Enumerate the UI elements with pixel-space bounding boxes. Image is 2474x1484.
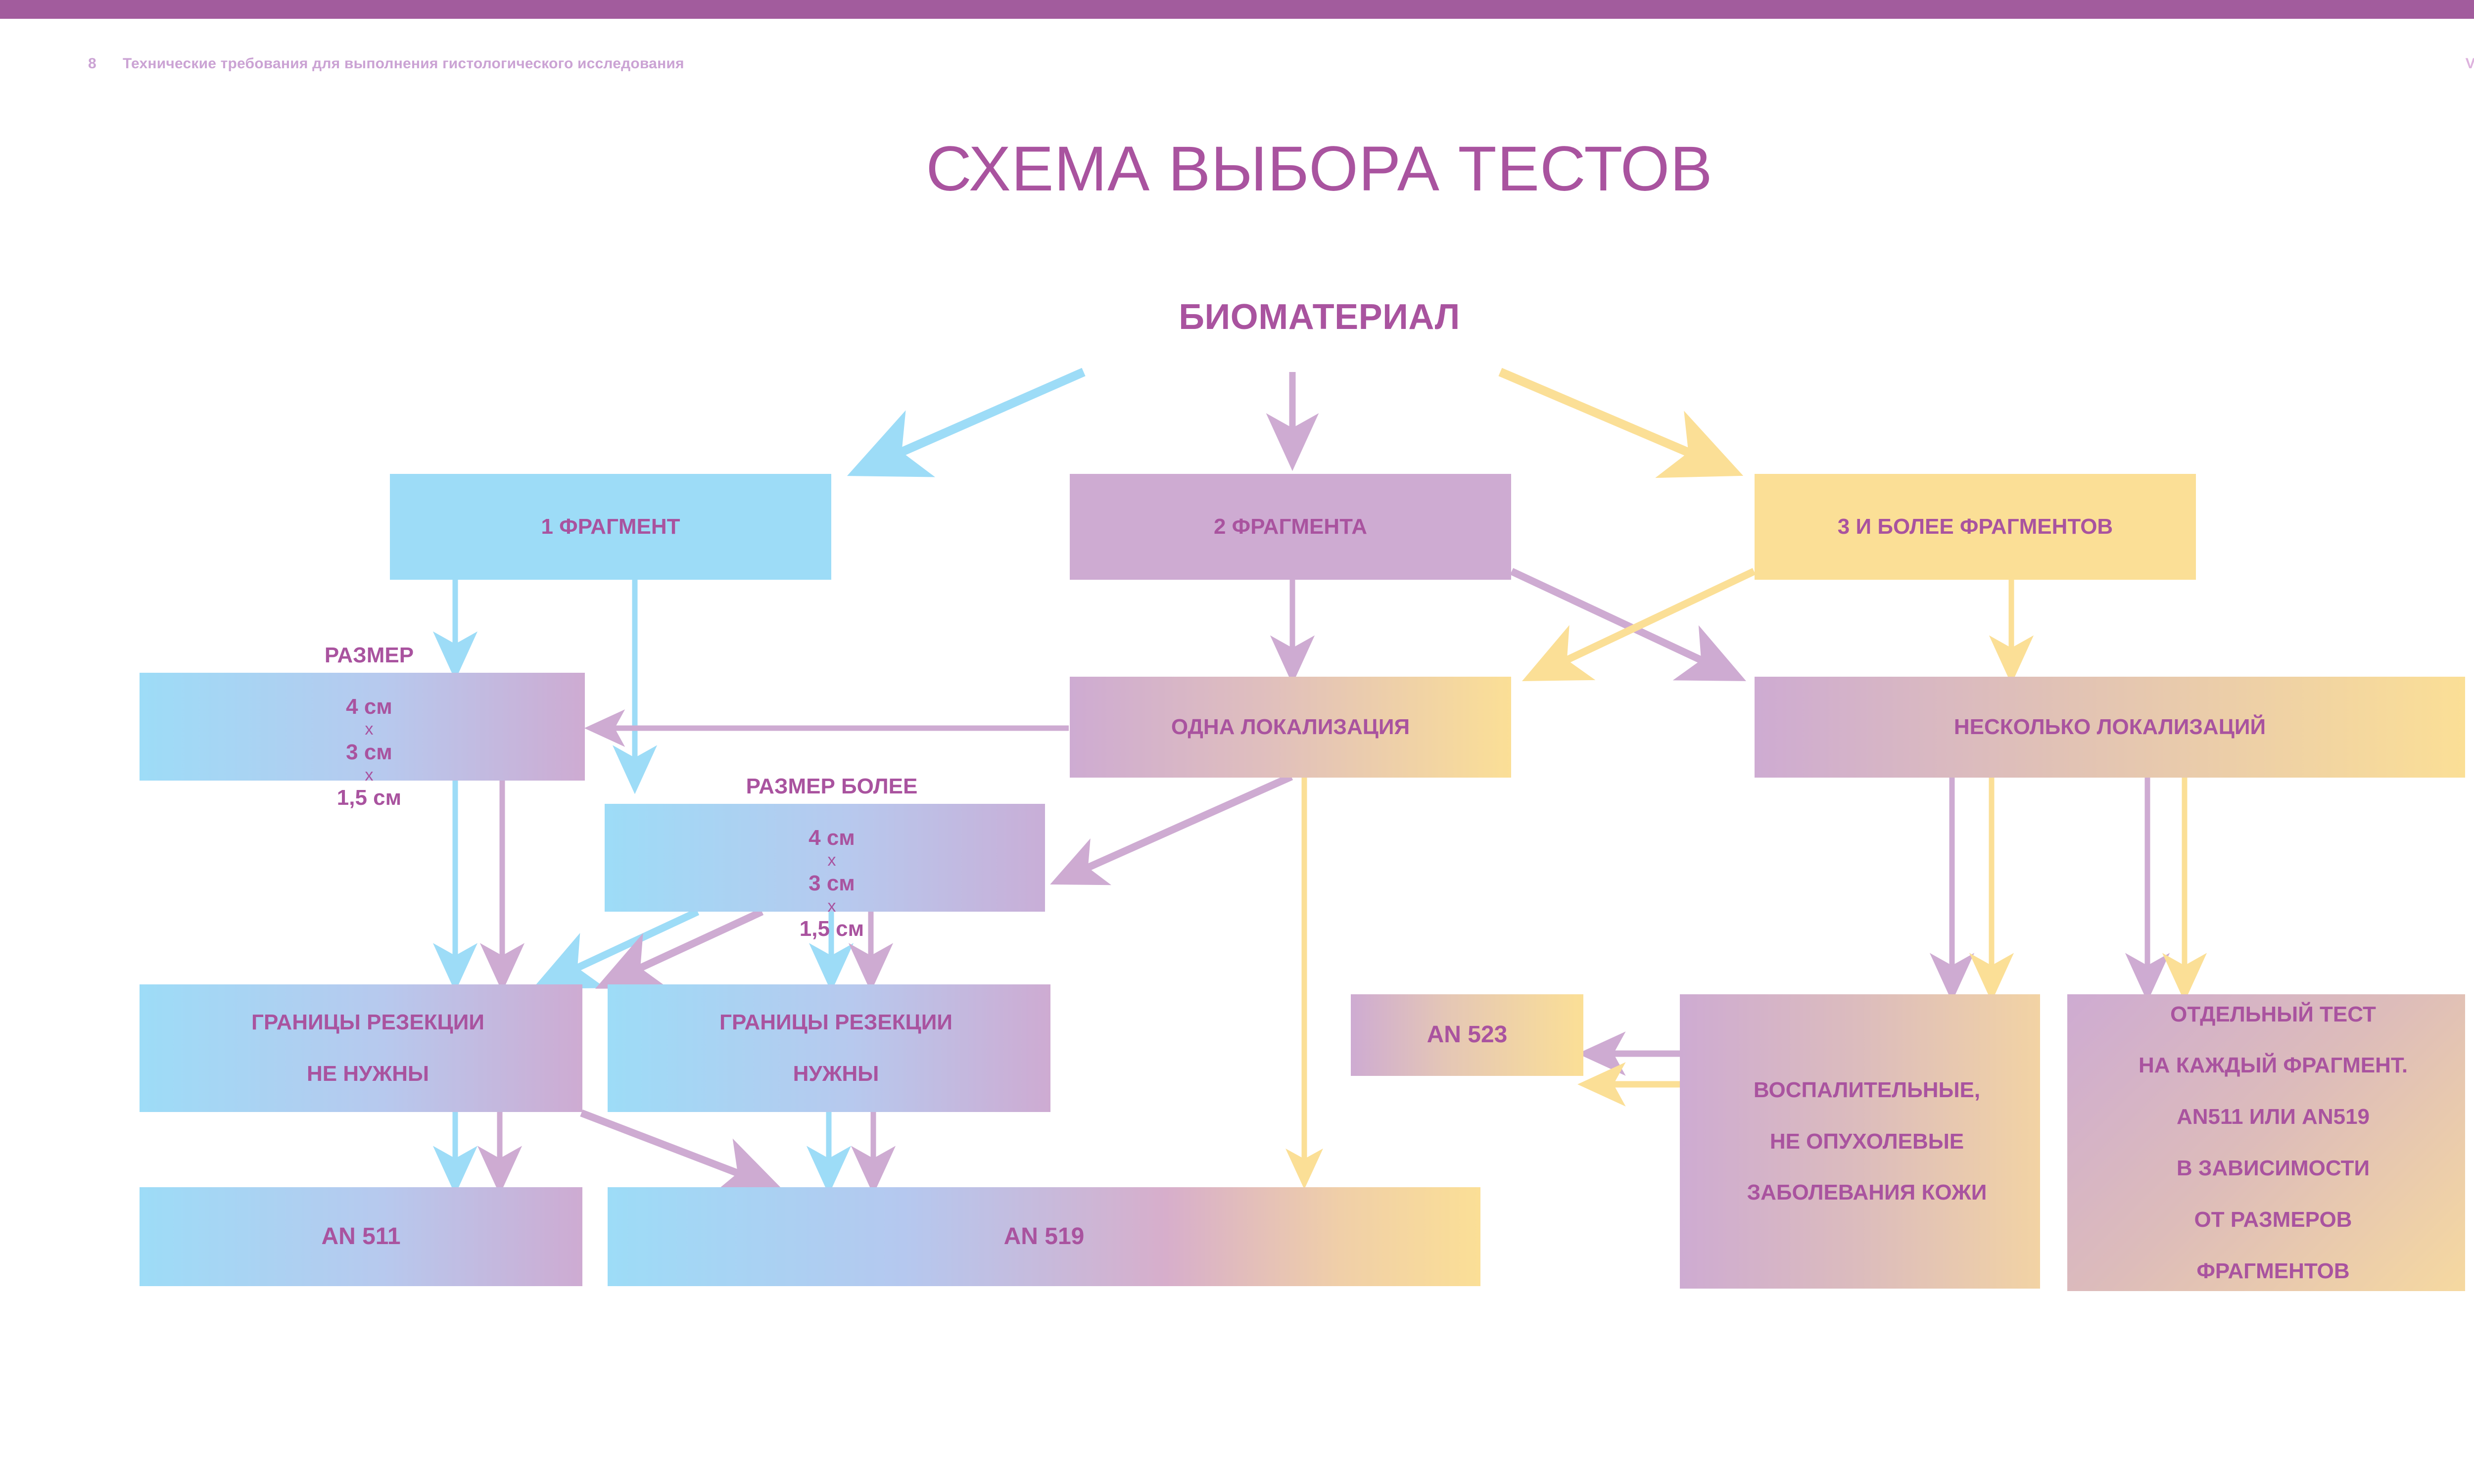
brand-logo: VET UNION (2466, 55, 2474, 72)
node-size-more-dim-b: 3 см (612, 871, 1052, 896)
node-an-523[interactable]: AN 523 (1351, 994, 1583, 1076)
node-inflammatory-line1: ВОСПАЛИТЕЛЬНЫЕ, (1687, 1077, 2047, 1103)
node-an-519[interactable]: AN 519 (608, 1187, 1480, 1286)
node-resection-borders-needed[interactable]: ГРАНИЦЫ РЕЗЕКЦИИ НУЖНЫ (608, 984, 1050, 1112)
node-size-more-dim-a: 4 см (612, 825, 1052, 851)
node-size-x1: x (146, 719, 592, 739)
node-separate-line4: В ЗАВИСИМОСТИ (2074, 1156, 2472, 1181)
node-size-more-dim-c: 1,5 см (612, 916, 1052, 942)
node-single-localization[interactable]: ОДНА ЛОКАЛИЗАЦИЯ (1070, 677, 1511, 778)
node-inflammatory-skin-diseases[interactable]: ВОСПАЛИТЕЛЬНЫЕ, НЕ ОПУХОЛЕВЫЕ ЗАБОЛЕВАНИ… (1680, 994, 2040, 1289)
node-separate-test-per-fragment[interactable]: ОТДЕЛЬНЫЙ ТЕСТ НА КАЖДЫЙ ФРАГМЕНТ. AN511… (2067, 994, 2465, 1291)
node-multiple-localizations-label: НЕСКОЛЬКО ЛОКАЛИЗАЦИЙ (1755, 714, 2465, 740)
node-resection-borders-not-needed-line2: НЕ НУЖНЫ (146, 1061, 589, 1087)
node-resection-borders-needed-line2: НУЖНЫ (615, 1061, 1057, 1087)
node-size-more-x1: x (612, 850, 1052, 870)
page-number: 8 (88, 55, 96, 72)
node-size-more[interactable]: РАЗМЕР БОЛЕЕ 4 смx3 смx1,5 см (605, 804, 1045, 912)
node-size-dim-a: 4 см (146, 694, 592, 720)
node-1-fragment-label: 1 ФРАГМЕНТ (390, 514, 831, 540)
node-size-more-line1: РАЗМЕР БОЛЕЕ (612, 774, 1052, 799)
node-size-more-x2: x (612, 896, 1052, 916)
page-title: СХЕМА ВЫБОРА ТЕСТОВ (0, 133, 2474, 205)
node-resection-borders-not-needed-line1: ГРАНИЦЫ РЕЗЕКЦИИ (146, 1010, 589, 1035)
node-multiple-localizations[interactable]: НЕСКОЛЬКО ЛОКАЛИЗАЦИЙ (1755, 677, 2465, 778)
running-head: Технические требования для выполнения ги… (123, 55, 684, 72)
node-3-or-more-fragments[interactable]: 3 И БОЛЕЕ ФРАГМЕНТОВ (1755, 474, 2196, 580)
node-size-line1: РАЗМЕР (146, 643, 592, 668)
node-separate-line5: ОТ РАЗМЕРОВ (2074, 1207, 2472, 1233)
node-separate-line3: AN511 ИЛИ AN519 (2074, 1104, 2472, 1130)
node-size-dim-b: 3 см (146, 740, 592, 765)
node-an-511-label: AN 511 (140, 1223, 582, 1251)
node-1-fragment[interactable]: 1 ФРАГМЕНТ (390, 474, 831, 580)
node-inflammatory-line2: НЕ ОПУХОЛЕВЫЕ (1687, 1129, 2047, 1155)
node-an-519-label: AN 519 (608, 1223, 1480, 1251)
node-inflammatory-line3: ЗАБОЛЕВАНИЯ КОЖИ (1687, 1180, 2047, 1206)
node-an-523-label: AN 523 (1351, 1021, 1583, 1049)
node-resection-borders-not-needed[interactable]: ГРАНИЦЫ РЕЗЕКЦИИ НЕ НУЖНЫ (140, 984, 582, 1112)
node-3-or-more-fragments-label: 3 И БОЛЕЕ ФРАГМЕНТОВ (1755, 514, 2196, 540)
node-separate-line1: ОТДЕЛЬНЫЙ ТЕСТ (2074, 1002, 2472, 1027)
node-size[interactable]: РАЗМЕР 4 смx3 смx1,5 см (140, 673, 585, 781)
node-size-dim-c: 1,5 см (146, 785, 592, 811)
node-single-localization-label: ОДНА ЛОКАЛИЗАЦИЯ (1070, 714, 1511, 740)
node-2-fragments[interactable]: 2 ФРАГМЕНТА (1070, 474, 1511, 580)
node-separate-line2: НА КАЖДЫЙ ФРАГМЕНТ. (2074, 1053, 2472, 1078)
node-resection-borders-needed-line1: ГРАНИЦЫ РЕЗЕКЦИИ (615, 1010, 1057, 1035)
root-node: БИОМАТЕРИАЛ (0, 297, 2474, 337)
node-separate-line6: ФРАГМЕНТОВ (2074, 1258, 2472, 1284)
top-accent-bar (0, 0, 2474, 19)
node-2-fragments-label: 2 ФРАГМЕНТА (1070, 514, 1511, 540)
node-size-x2: x (146, 765, 592, 785)
node-an-511[interactable]: AN 511 (140, 1187, 582, 1286)
